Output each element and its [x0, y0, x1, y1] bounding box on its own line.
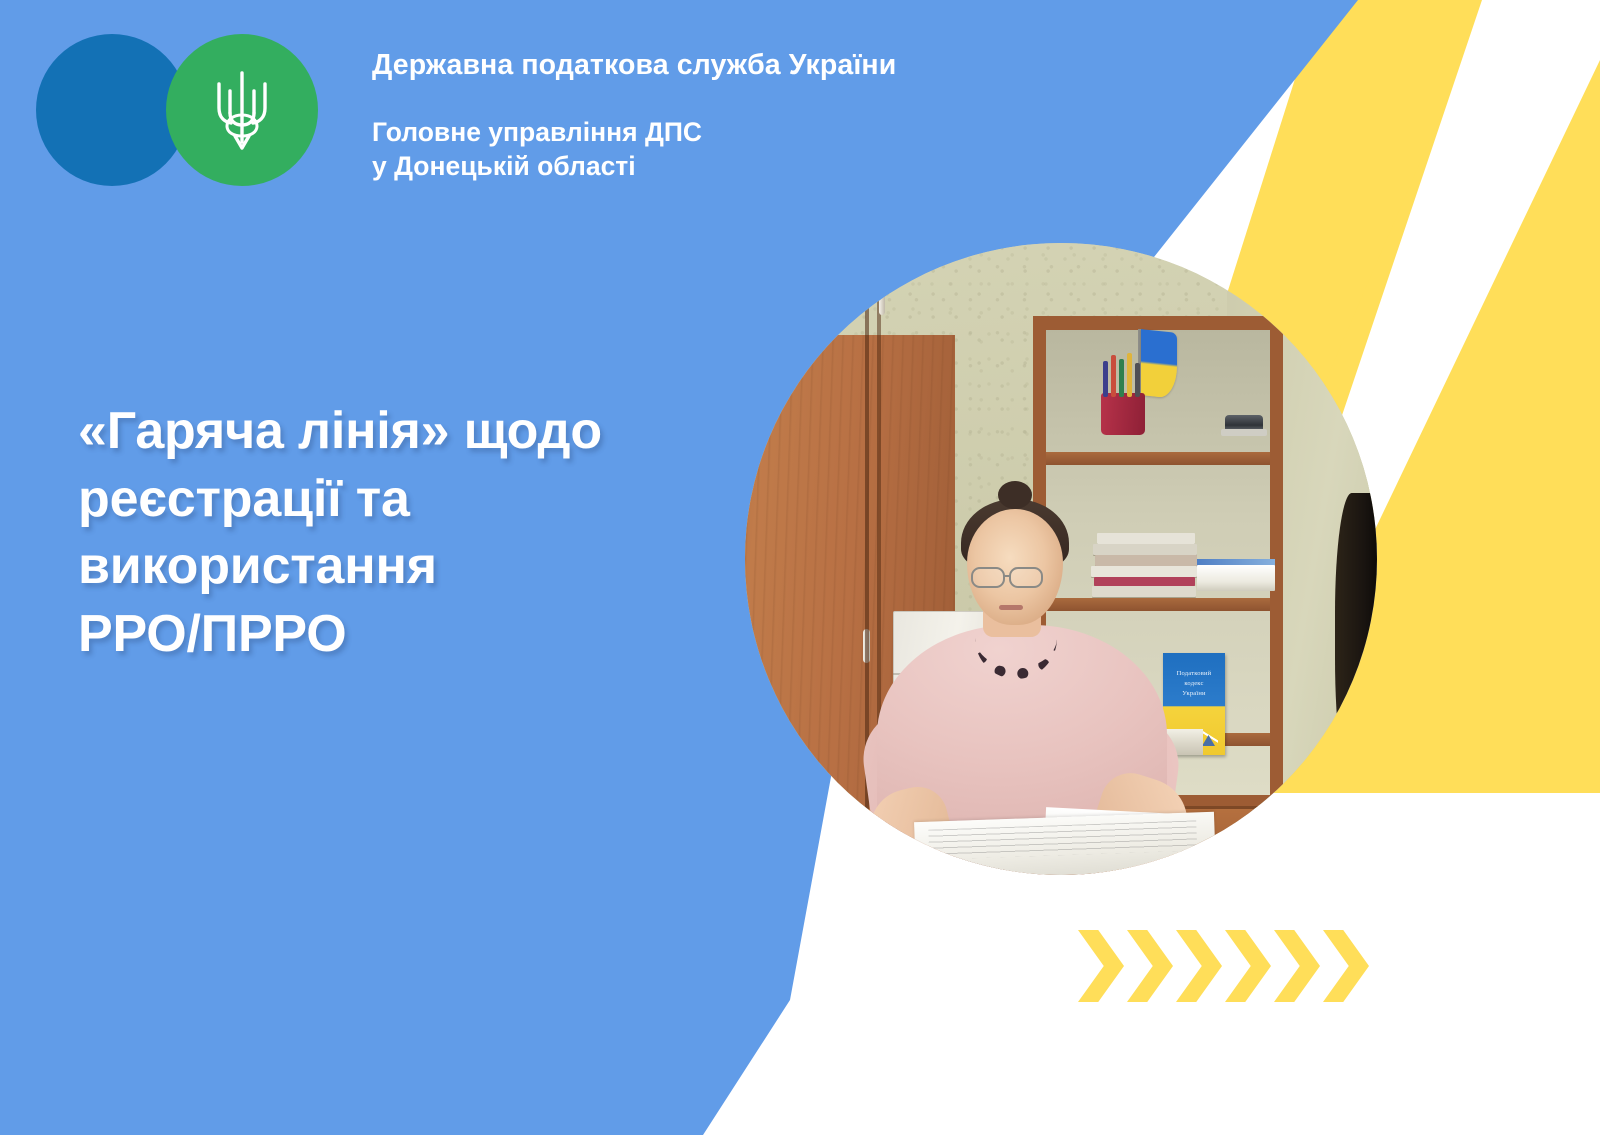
document-folder [1095, 555, 1197, 566]
document-text-lines [928, 820, 1197, 859]
poster-canvas: Державна податкова служба України Головн… [0, 0, 1600, 1135]
pen [1103, 361, 1108, 397]
pen [1111, 355, 1116, 397]
person-mouth [999, 605, 1023, 610]
doorway-shadow [1335, 493, 1377, 793]
department-title-line-2: у Донецькій області [372, 149, 896, 183]
chevron-right-icon [1225, 930, 1271, 1002]
person-hair-bun [998, 481, 1032, 509]
cabinet-handle [851, 279, 857, 315]
tax-code-title-line-3: України [1163, 689, 1225, 699]
eyeglasses-bridge [1004, 575, 1011, 577]
document-folder [1092, 586, 1196, 597]
pen-cup [1101, 393, 1145, 435]
desk-documents [914, 812, 1216, 875]
department-title-line-1: Головне управління ДПС [372, 115, 896, 149]
cabinet-handle [879, 279, 885, 315]
masthead: Державна податкова служба України Головн… [36, 34, 896, 186]
document-folder [1097, 533, 1195, 544]
white-book [1197, 565, 1275, 591]
tax-code-title-line-1: Податковий [1163, 669, 1225, 679]
chevron-right-icon [1127, 930, 1173, 1002]
chevron-right-icon [1176, 930, 1222, 1002]
chevron-right-icon [1323, 930, 1369, 1002]
shelf-divider [1046, 598, 1270, 611]
tax-code-book-title: Податковий кодекс України [1163, 669, 1225, 699]
ukrainian-flag-icon [1141, 329, 1177, 399]
eyeglasses-lens-left [971, 567, 1005, 588]
agency-logo [36, 34, 316, 186]
tax-code-title-line-2: кодекс [1163, 679, 1225, 689]
page-title-line-2: реєстрації та [78, 466, 758, 534]
organization-title: Державна податкова служба України [372, 48, 896, 83]
eyeglasses-lens-right [1009, 567, 1043, 588]
shelf-divider [1046, 452, 1270, 465]
office-scene-illustration: Податковий кодекс України [745, 243, 1377, 875]
document-folder [1091, 566, 1197, 577]
pen [1127, 353, 1132, 397]
chevron-arrow-group [1078, 930, 1369, 1002]
ukraine-trident-icon [166, 34, 318, 186]
pen [1119, 359, 1124, 397]
pen [1135, 363, 1140, 397]
page-title-line-3: використання [78, 533, 758, 601]
masthead-text-block: Державна податкова служба України Головн… [372, 34, 896, 184]
page-title-line-4: РРО/ПРРО [78, 601, 758, 669]
page-title: «Гаряча лінія» щодо реєстрації та викори… [78, 398, 758, 668]
document-folder [1094, 577, 1195, 586]
stapler-base [1221, 429, 1267, 436]
chevron-right-icon [1078, 930, 1124, 1002]
document-folder [1093, 544, 1197, 555]
department-title: Головне управління ДПС у Донецькій облас… [372, 115, 896, 184]
photo-circle: Податковий кодекс України [745, 243, 1377, 875]
page-title-line-1: «Гаряча лінія» щодо [78, 398, 758, 466]
chevron-right-icon [1274, 930, 1320, 1002]
